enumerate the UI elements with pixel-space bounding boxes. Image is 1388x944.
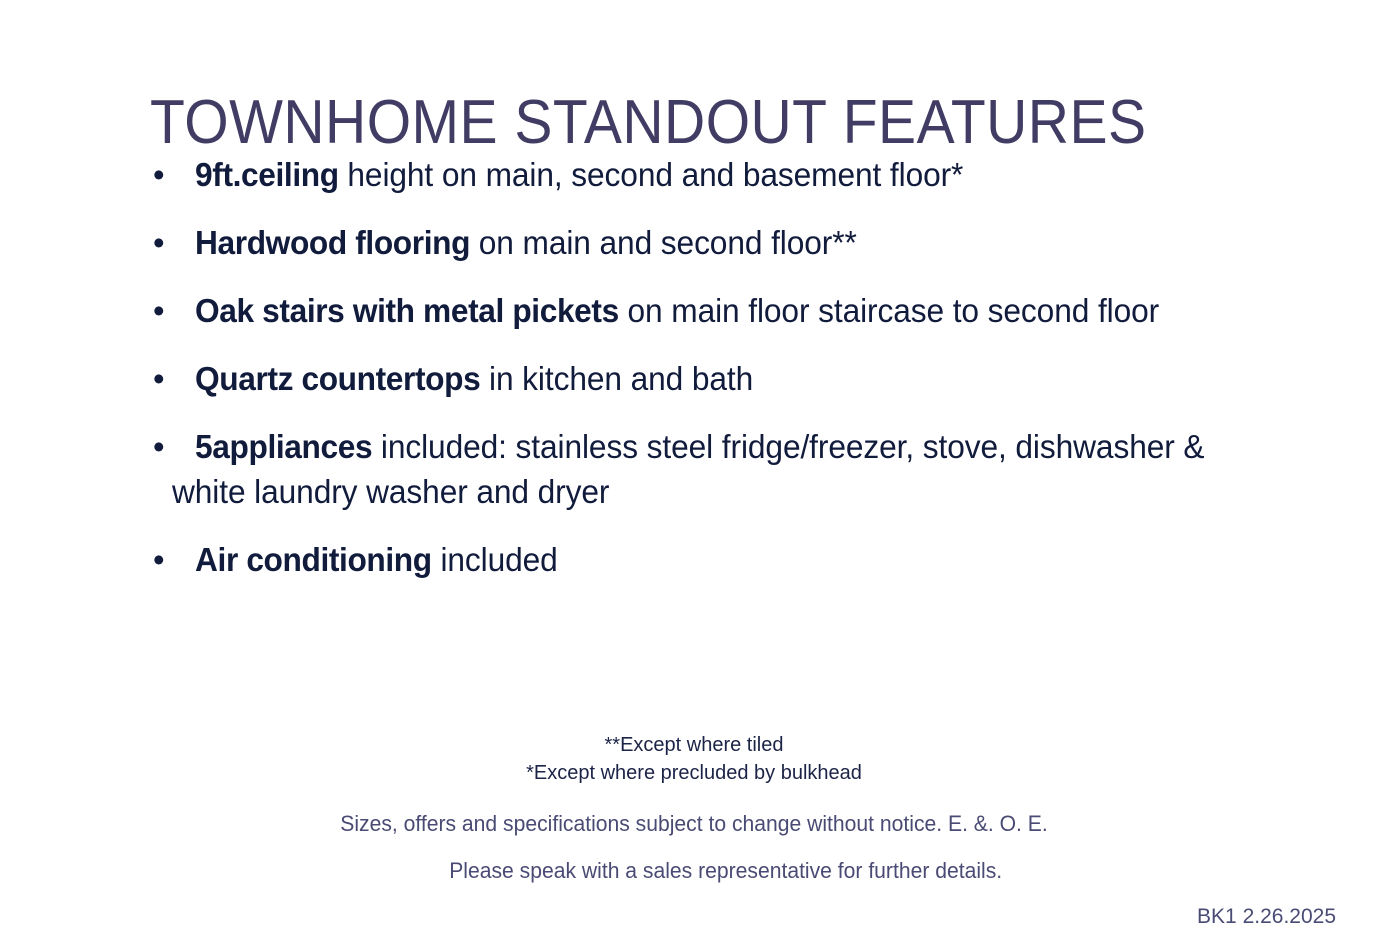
feature-text: Hardwood flooring on main and second flo… (172, 220, 1216, 265)
feature-text: Oak stairs with metal pickets on main fl… (172, 288, 1216, 333)
features-list: • 9ft.ceiling height on main, second and… (150, 152, 1260, 582)
list-item: • Hardwood flooring on main and second f… (150, 220, 1260, 265)
slide-root: TOWNHOME STANDOUT FEATURES • 9ft.ceiling… (0, 0, 1388, 944)
bullet-icon: • (153, 356, 164, 401)
footer-code: BK1 2.26.2025 (1197, 904, 1336, 930)
feature-lead: 9ft.ceiling (172, 156, 339, 193)
feature-lead: Quartz countertops (172, 360, 480, 397)
list-item: • 5appliances included: stainless steel … (150, 424, 1260, 514)
feature-rest: included (432, 541, 558, 578)
feature-text: 5appliances included: stainless steel fr… (172, 424, 1216, 514)
bullet-icon: • (153, 152, 164, 197)
disclaimer-line-1: Sizes, offers and specifications subject… (28, 808, 1360, 839)
bullet-icon: • (153, 537, 164, 582)
disclaimer-line-2: Please speak with a sales representative… (28, 855, 1360, 886)
feature-lead: 5appliances (172, 428, 372, 465)
list-item: • Quartz countertops in kitchen and bath (150, 356, 1260, 401)
bullet-icon: • (153, 424, 164, 469)
disclaimer: Sizes, offers and specifications subject… (0, 808, 1388, 886)
bullet-icon: • (153, 288, 164, 333)
feature-lead: Air conditioning (172, 541, 432, 578)
feature-rest: on main and second floor** (470, 224, 857, 261)
feature-rest: in kitchen and bath (480, 360, 753, 397)
list-item: • 9ft.ceiling height on main, second and… (150, 152, 1260, 197)
list-item: • Air conditioning included (150, 537, 1260, 582)
footnote-tiled: **Except where tiled (0, 731, 1388, 759)
list-item: • Oak stairs with metal pickets on main … (150, 288, 1260, 333)
feature-lead: Hardwood flooring (172, 224, 470, 261)
bullet-icon: • (153, 220, 164, 265)
feature-text: Quartz countertops in kitchen and bath (172, 356, 1216, 401)
feature-rest: height on main, second and basement floo… (339, 156, 964, 193)
feature-text: Air conditioning included (172, 537, 1216, 582)
feature-rest: on main floor staircase to second floor (619, 292, 1159, 329)
feature-text: 9ft.ceiling height on main, second and b… (172, 152, 1216, 197)
footnote-bulkhead: *Except where precluded by bulkhead (0, 759, 1388, 787)
feature-lead: Oak stairs with metal pickets (172, 292, 619, 329)
footnotes: **Except where tiled *Except where precl… (0, 731, 1388, 787)
page-title: TOWNHOME STANDOUT FEATURES (150, 88, 1146, 158)
